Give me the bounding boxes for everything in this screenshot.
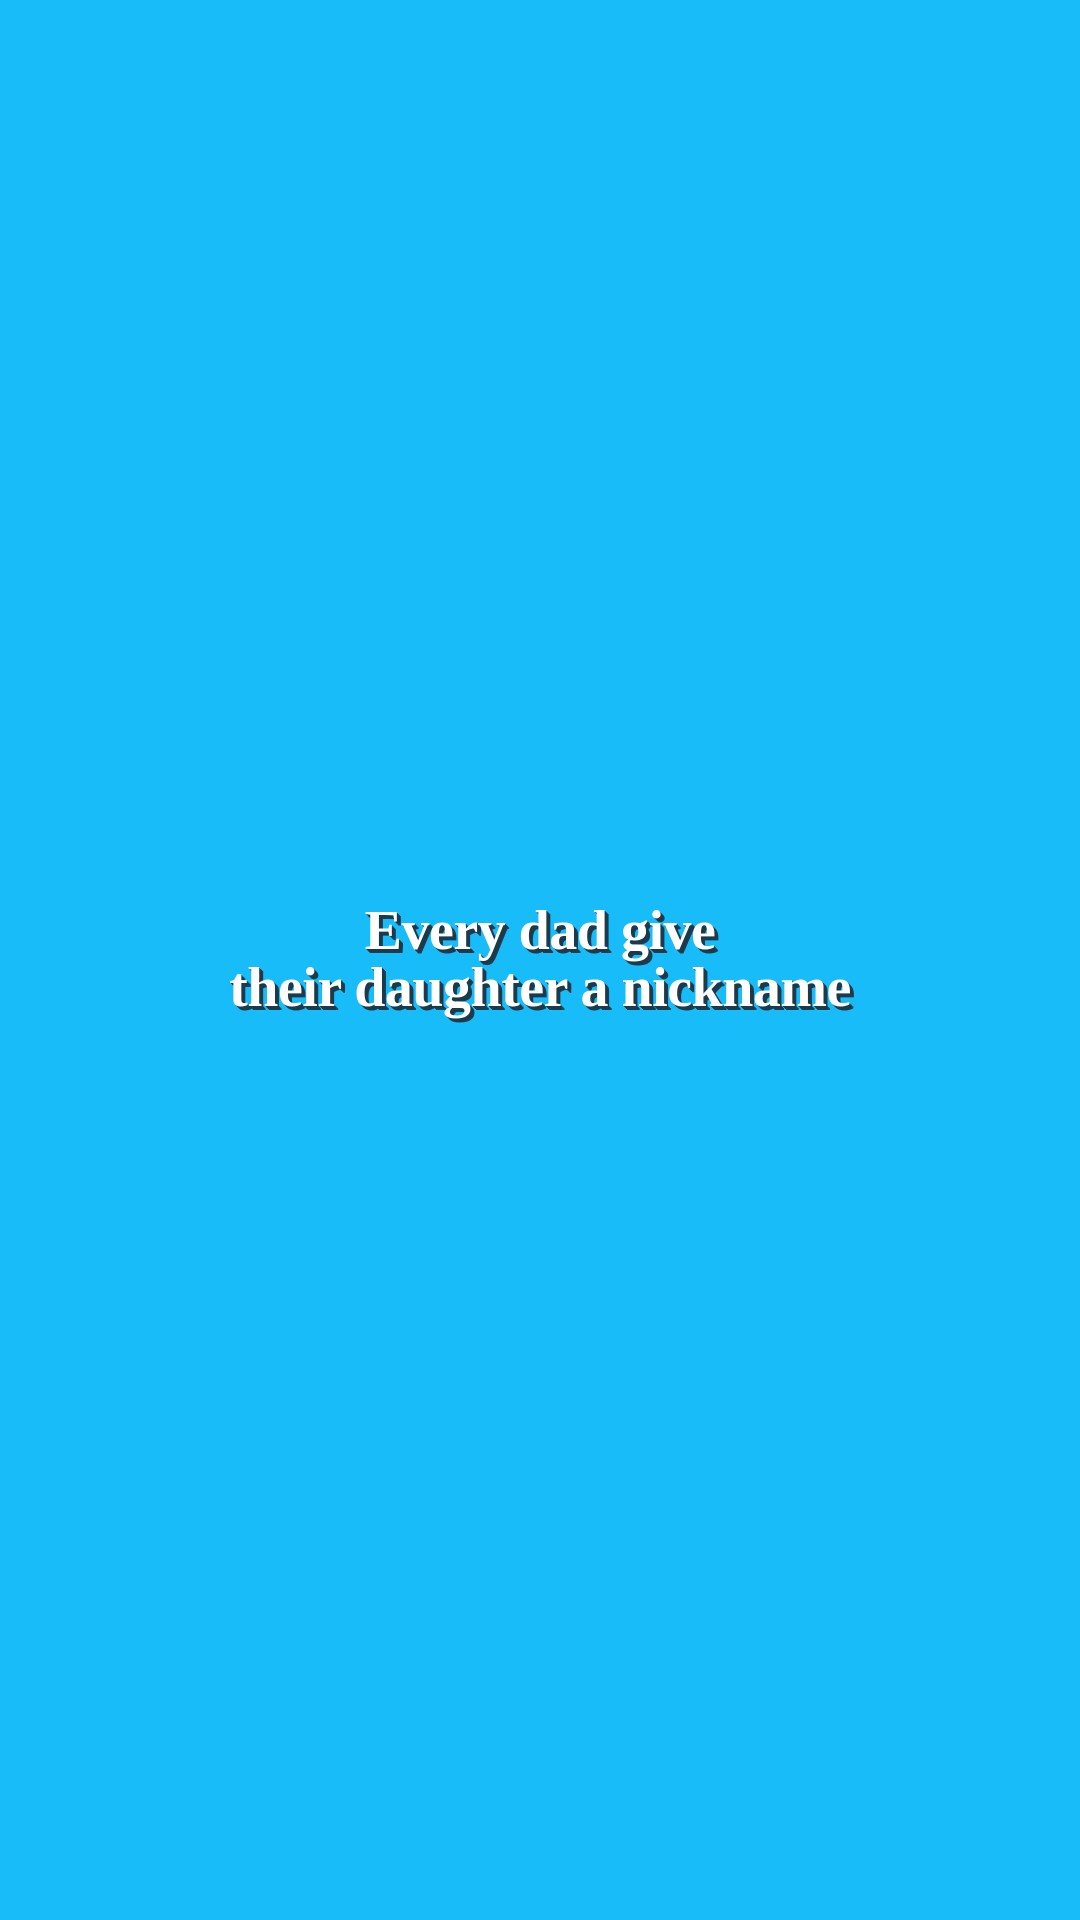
caption-text-block: Every dad give their daughter a nickname (0, 903, 1080, 1017)
meme-canvas: Every dad give their daughter a nickname (0, 0, 1080, 1920)
caption-line-1: Every dad give (40, 903, 1040, 960)
caption-line-2: their daughter a nickname (40, 960, 1040, 1017)
